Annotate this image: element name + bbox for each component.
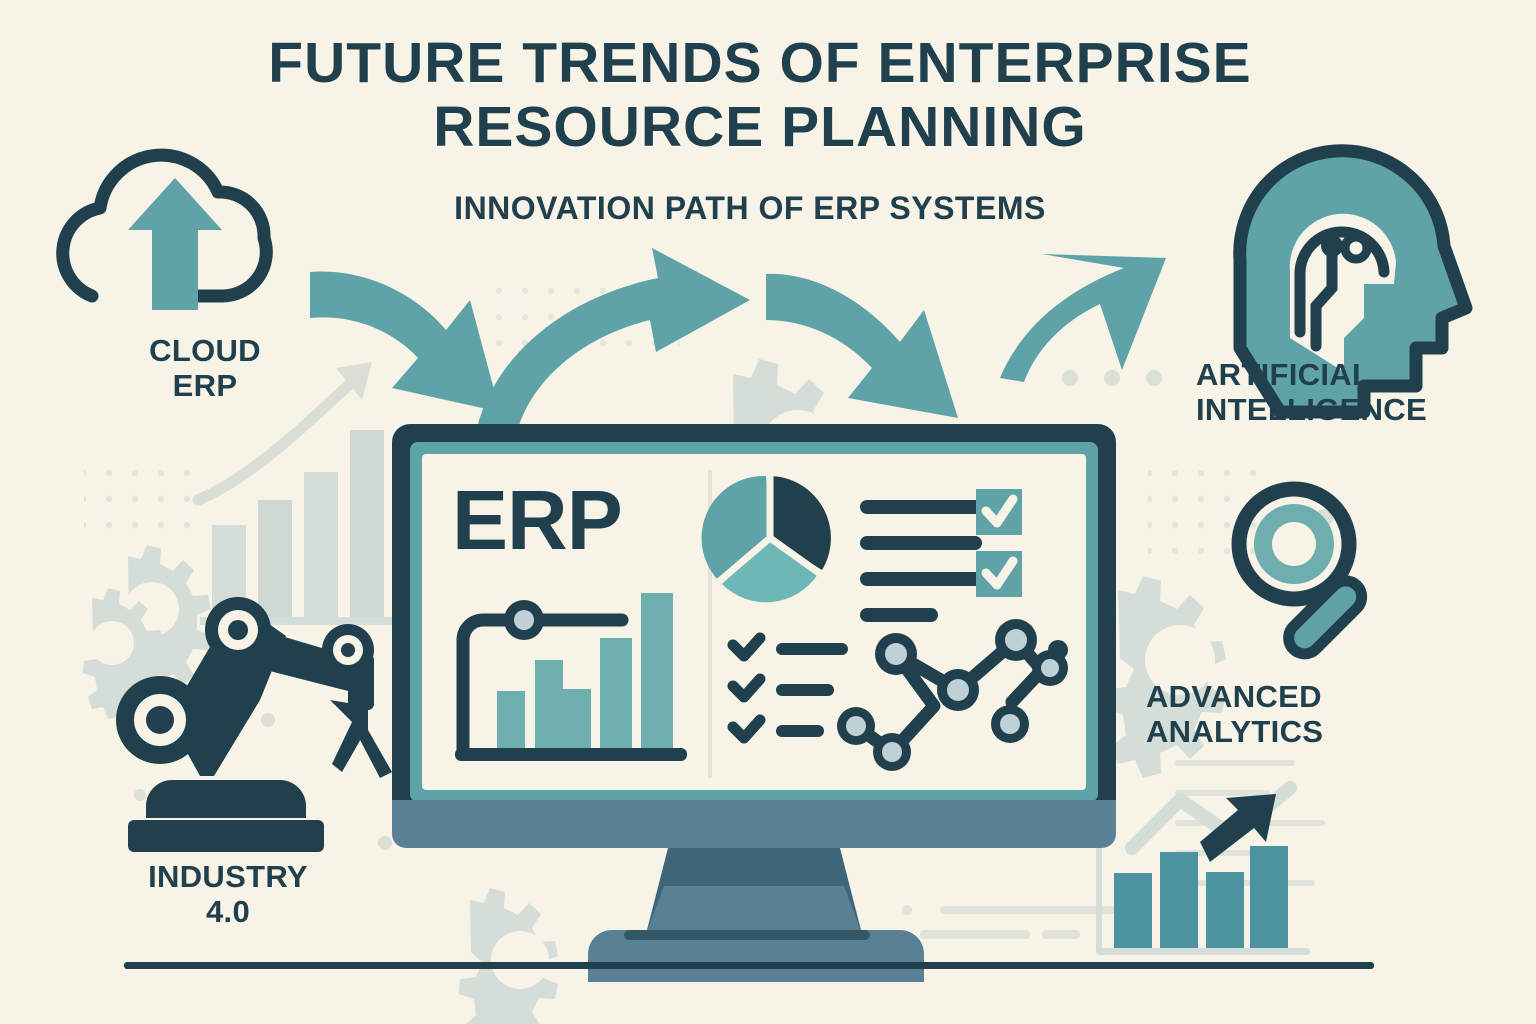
page-title-line2: RESOURCE PLANNING: [200, 96, 1320, 160]
page-title: FUTURE TRENDS OF ENTERPRISE RESOURCE PLA…: [200, 32, 1320, 160]
node-label-artificial-intelligence: ARTIFICIAL INTELLIGENCE: [1196, 358, 1526, 427]
node-label-analytics-line2: ANALYTICS: [1146, 715, 1486, 750]
node-label-industry-40-line2: 4.0: [108, 895, 348, 930]
baseline-rule: [124, 962, 1374, 969]
node-label-cloud-erp-line1: CLOUD: [100, 334, 310, 369]
node-label-analytics-line1: ADVANCED: [1146, 680, 1486, 715]
node-label-industry-40: INDUSTRY 4.0: [108, 860, 348, 929]
page-subtitle: INNOVATION PATH OF ERP SYSTEMS: [330, 192, 1170, 226]
infographic-canvas: FUTURE TRENDS OF ENTERPRISE RESOURCE PLA…: [0, 0, 1536, 1024]
node-label-ai-line1: ARTIFICIAL: [1196, 358, 1526, 393]
node-label-cloud-erp-line2: ERP: [100, 369, 310, 404]
screen-heading-erp: ERP: [452, 478, 622, 562]
page-title-line1: FUTURE TRENDS OF ENTERPRISE: [200, 32, 1320, 96]
node-label-cloud-erp: CLOUD ERP: [100, 334, 310, 403]
node-label-advanced-analytics: ADVANCED ANALYTICS: [1146, 680, 1486, 749]
node-label-ai-line2: INTELLIGENCE: [1196, 393, 1526, 428]
node-label-industry-40-line1: INDUSTRY: [108, 860, 348, 895]
